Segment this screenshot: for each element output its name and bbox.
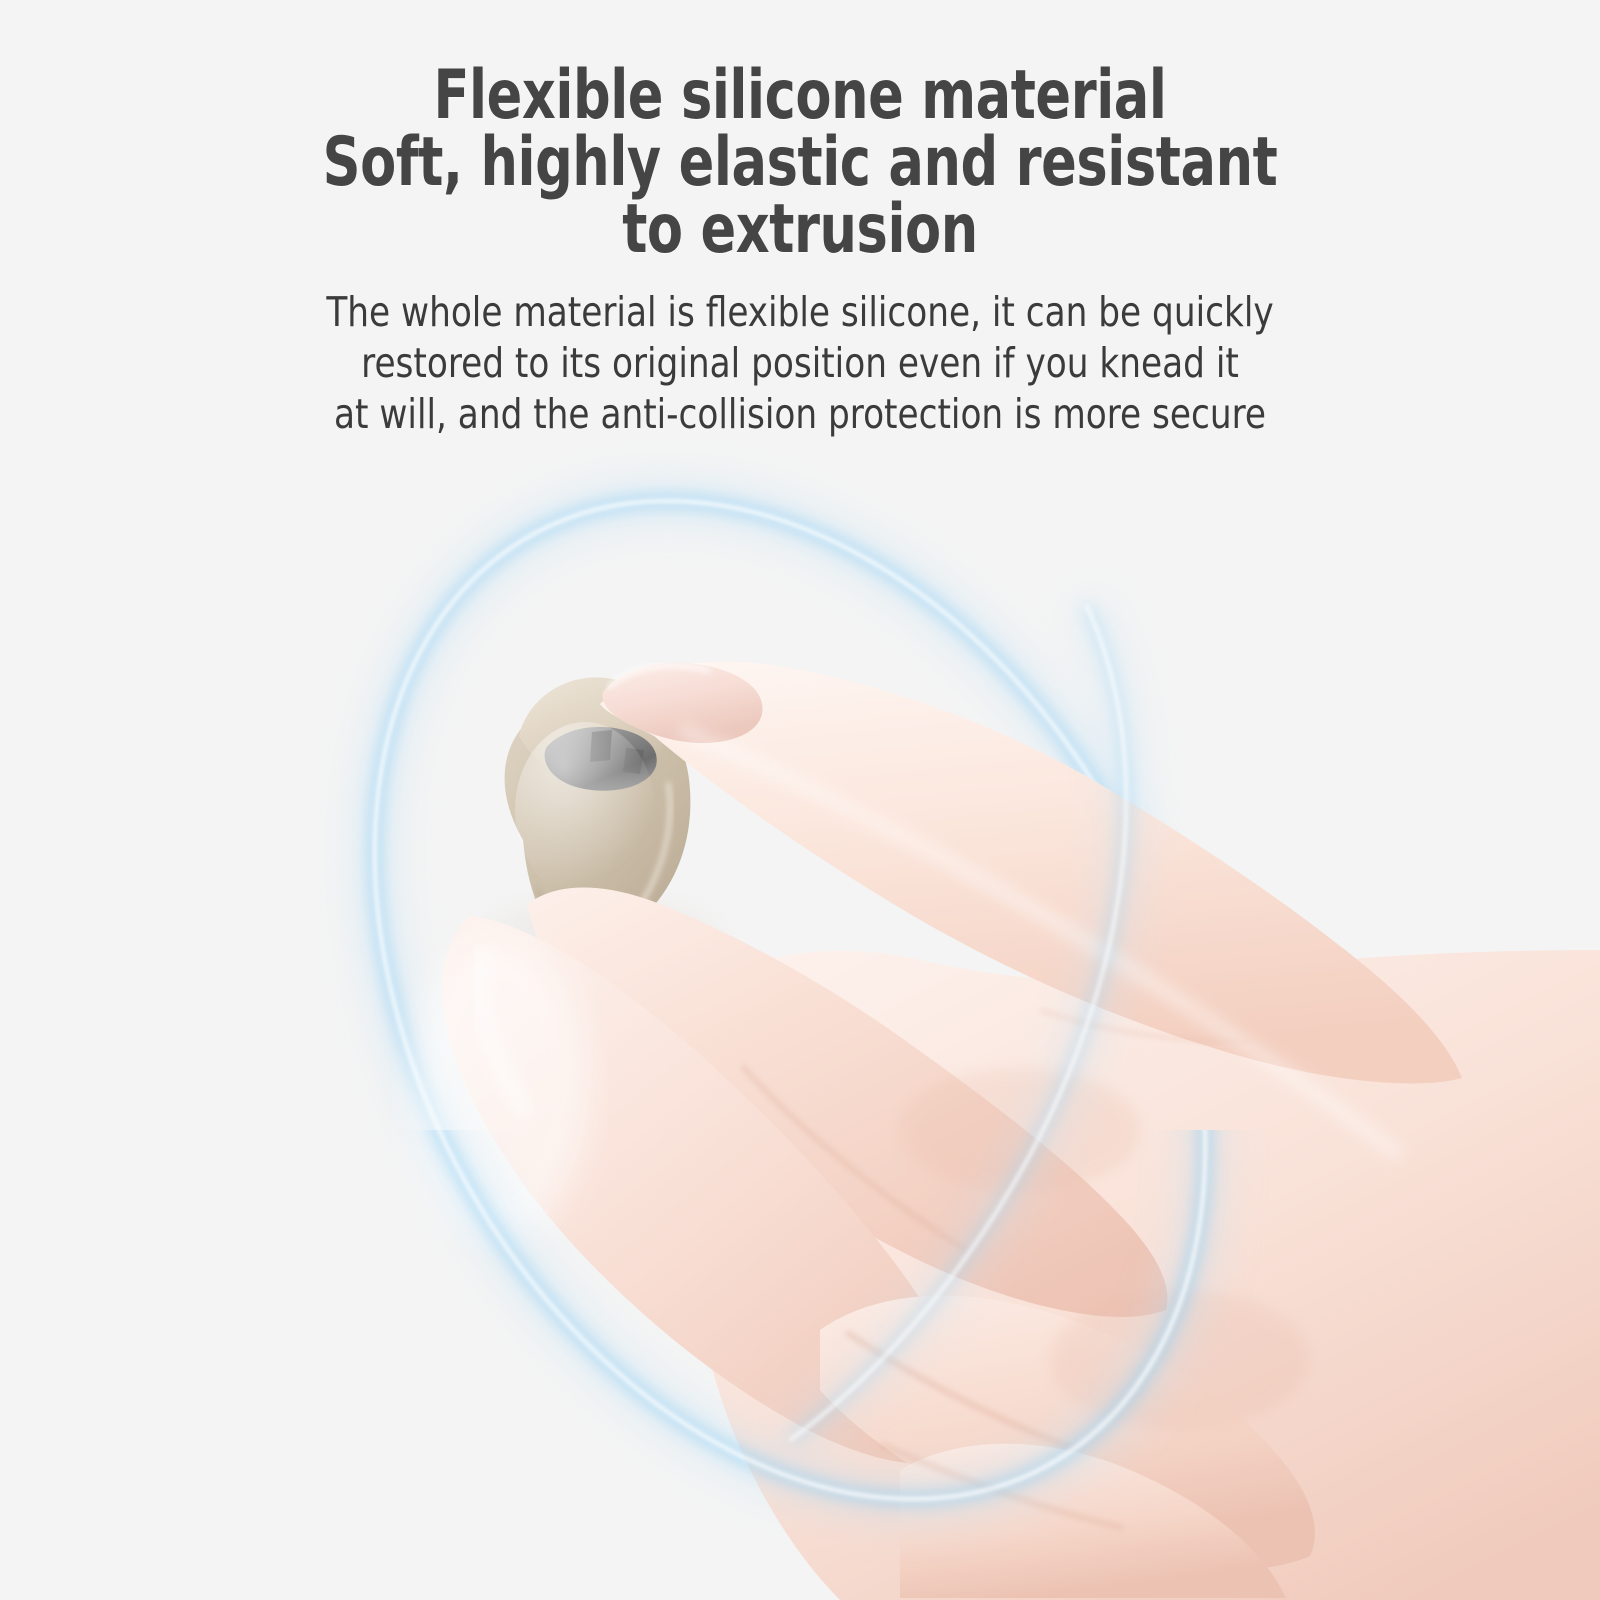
ring-arc-bottom	[207, 354, 1374, 1600]
description-line-1: The whole material is flexible silicone,…	[56, 287, 1544, 338]
product-photo	[0, 430, 1600, 1600]
headline-line-2: Soft, highly elastic and resistant	[112, 129, 1488, 196]
headline-line-1: Flexible silicone material	[112, 62, 1488, 129]
description-line-2: restored to its original position even i…	[56, 338, 1544, 389]
description-text: The whole material is flexible silicone,…	[56, 263, 1544, 440]
text-block: Flexible silicone material Soft, highly …	[0, 0, 1600, 440]
ring-arc-right-front	[790, 605, 1126, 1440]
blue-glow-ring-front	[0, 430, 1600, 1600]
headline-line-3: to extrusion	[112, 196, 1488, 263]
product-feature-poster: Flexible silicone material Soft, highly …	[0, 0, 1600, 1600]
page-title: Flexible silicone material Soft, highly …	[112, 0, 1488, 263]
